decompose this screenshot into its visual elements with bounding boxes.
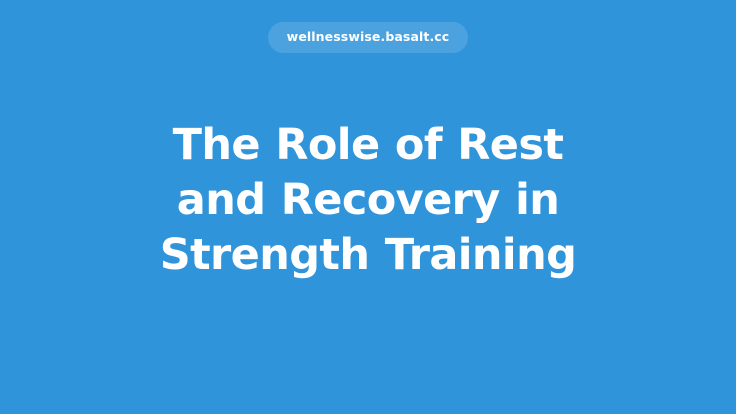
social-share-card: wellnesswise.basalt.cc The Role of Rest … xyxy=(0,0,736,414)
headline-container: The Role of Rest and Recovery in Strengt… xyxy=(0,118,736,283)
page-title: The Role of Rest and Recovery in Strengt… xyxy=(133,118,603,283)
domain-badge-label: wellnesswise.basalt.cc xyxy=(287,31,450,44)
domain-badge: wellnesswise.basalt.cc xyxy=(268,22,469,53)
